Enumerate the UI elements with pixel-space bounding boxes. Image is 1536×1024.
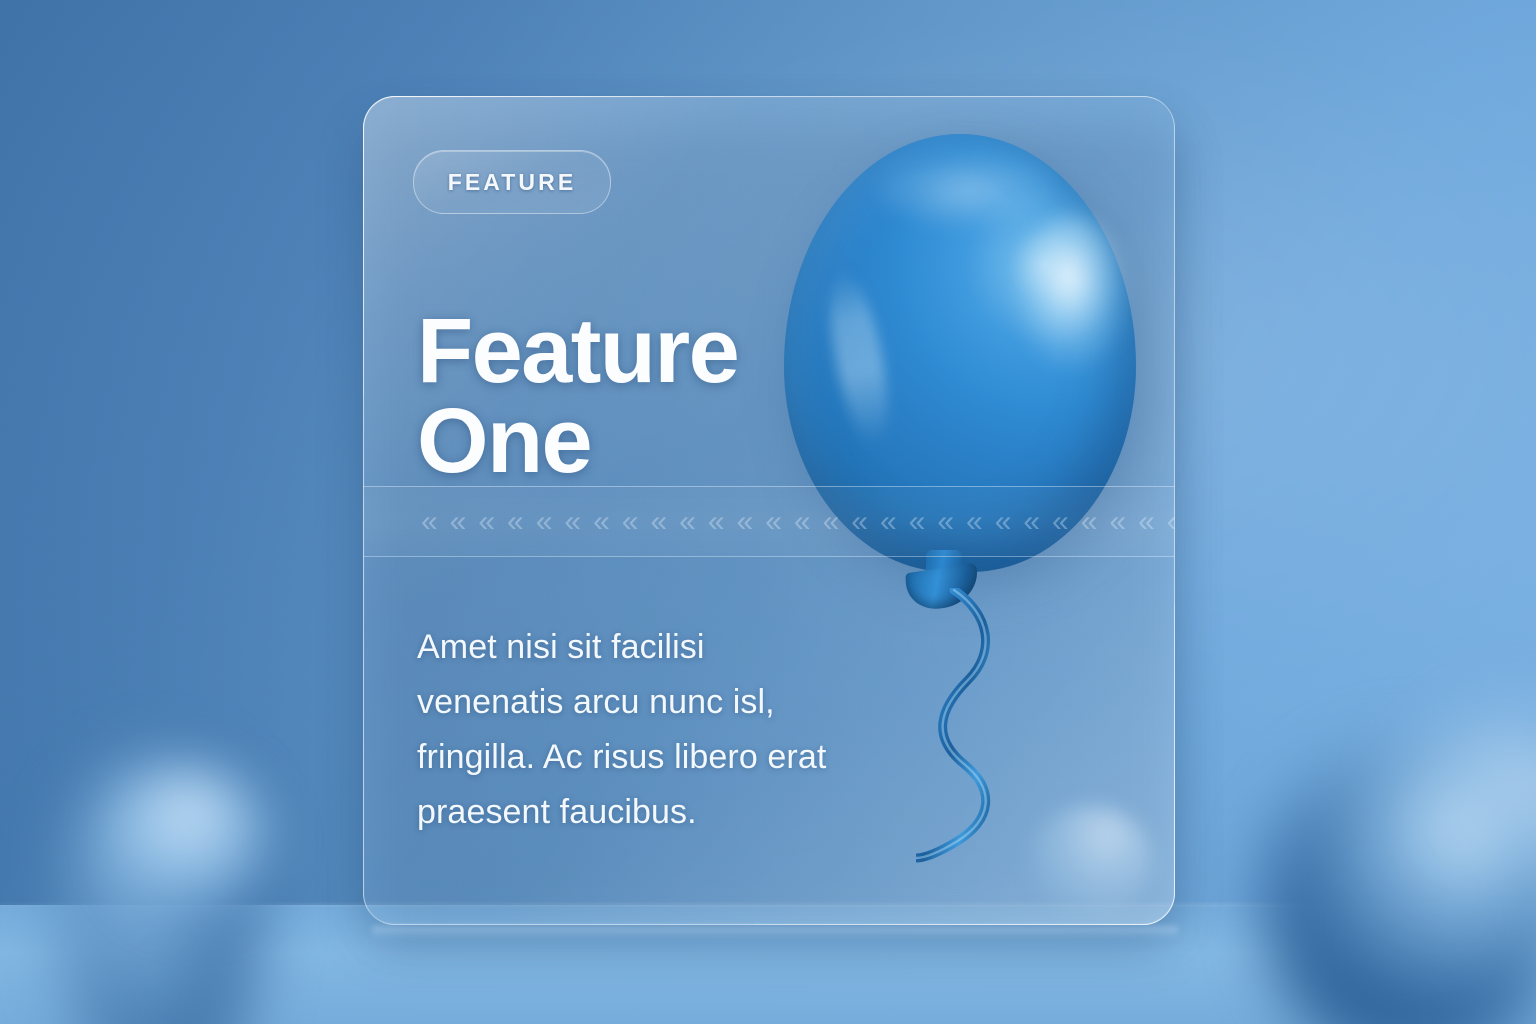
- feature-badge[interactable]: FEATURE: [413, 150, 611, 214]
- feature-card[interactable]: FEATURE Feature One ««««««««««««««««««««…: [363, 96, 1175, 925]
- card-content: FEATURE Feature One ««««««««««««««««««««…: [363, 96, 1175, 925]
- scene-root: FEATURE Feature One ««««««««««««««««««««…: [0, 0, 1536, 1024]
- chevron-pattern: ««««««««««««««««««««««««««««««: [363, 507, 1175, 537]
- chevron-divider: ««««««««««««««««««««««««««««««: [363, 486, 1175, 557]
- card-body-text: Amet nisi sit facilisi venenatis arcu nu…: [417, 620, 847, 840]
- card-floor-reflection: [372, 926, 1178, 948]
- feature-badge-label: FEATURE: [448, 169, 577, 196]
- card-title: Feature One: [417, 306, 837, 486]
